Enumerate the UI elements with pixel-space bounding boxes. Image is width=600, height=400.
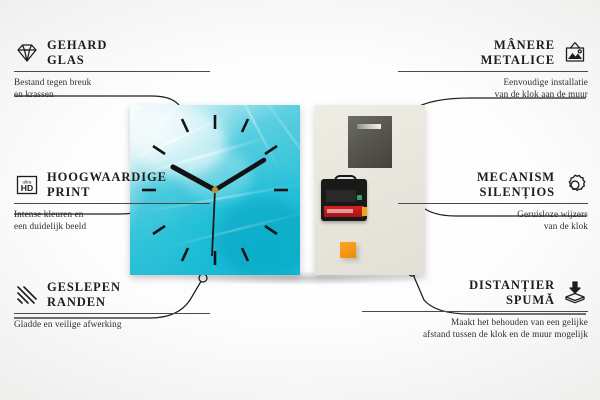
feature-geslepen-randen: GESLEPEN RANDEN Gladde en veilige afwerk… bbox=[14, 280, 210, 330]
divider bbox=[398, 203, 588, 204]
mechanism-label bbox=[326, 190, 356, 202]
feature-subtitle: Maakt het behouden van een gelijke afsta… bbox=[362, 316, 588, 341]
feature-subtitle: Gladde en veilige afwerking bbox=[14, 318, 210, 331]
feature-title: HOOGWAARDIGE PRINT bbox=[47, 170, 167, 200]
clock-center-hub bbox=[212, 187, 218, 193]
diamond-icon bbox=[14, 40, 40, 66]
gear-icon bbox=[562, 172, 588, 198]
feature-title: GEHARD GLAS bbox=[47, 38, 107, 68]
divider bbox=[14, 71, 210, 72]
feature-subtitle: Intense kleuren en een duidelijk beeld bbox=[14, 208, 210, 233]
battery bbox=[324, 206, 364, 217]
foam-spacer bbox=[340, 242, 356, 258]
svg-text:HD: HD bbox=[21, 183, 33, 193]
divider bbox=[14, 313, 210, 314]
divider bbox=[14, 203, 210, 204]
feature-header: GEHARD GLAS bbox=[14, 38, 210, 68]
picture-hanger-icon bbox=[562, 40, 588, 66]
feature-distantier-spuma: DISTANȚIER SPUMĂ Maakt het behouden van … bbox=[362, 278, 588, 341]
feature-title: MÂNERE METALICE bbox=[481, 38, 555, 68]
feature-title: MECANISM SILENȚIOS bbox=[477, 170, 555, 200]
mechanism-body bbox=[321, 179, 367, 221]
feature-header: MÂNERE METALICE bbox=[398, 38, 588, 68]
feature-header: ultra HD HOOGWAARDIGE PRINT bbox=[14, 170, 210, 200]
feature-title: GESLEPEN RANDEN bbox=[47, 280, 121, 310]
metal-hanger-plate bbox=[348, 116, 392, 168]
feature-manere-metalice: MÂNERE METALICE Eenvoudige installatie v… bbox=[398, 38, 588, 101]
feature-title: DISTANȚIER SPUMĂ bbox=[469, 278, 555, 308]
feature-subtitle: Geruisloze wijzers van de klok bbox=[398, 208, 588, 233]
second-hand bbox=[212, 190, 215, 256]
feature-mecanism-silentios: MECANISM SILENȚIOS Geruisloze wijzers va… bbox=[398, 170, 588, 233]
ultra-hd-icon: ultra HD bbox=[14, 172, 40, 198]
feature-header: DISTANȚIER SPUMĂ bbox=[362, 278, 588, 308]
feature-header: MECANISM SILENȚIOS bbox=[398, 170, 588, 200]
feature-hoogwaardige-print: ultra HD HOOGWAARDIGE PRINT Intense kleu… bbox=[14, 170, 210, 233]
battery-positive-cap bbox=[362, 207, 367, 216]
battery-label bbox=[327, 209, 353, 213]
hanger-slot bbox=[357, 124, 381, 129]
infographic-canvas: GEHARD GLAS Bestand tegen breuk en krass… bbox=[0, 0, 600, 400]
minute-hand bbox=[215, 160, 264, 190]
clock-mechanism bbox=[321, 175, 367, 221]
divider bbox=[362, 311, 588, 312]
feature-subtitle: Bestand tegen breuk en krassen bbox=[14, 76, 210, 101]
divider bbox=[398, 71, 588, 72]
feature-header: GESLEPEN RANDEN bbox=[14, 280, 210, 310]
feature-gehard-glas: GEHARD GLAS Bestand tegen breuk en krass… bbox=[14, 38, 210, 101]
mechanism-indicator bbox=[357, 195, 362, 200]
feature-subtitle: Eenvoudige installatie van de klok aan d… bbox=[398, 76, 588, 101]
spacer-arrow-icon bbox=[562, 280, 588, 306]
beveled-edges-icon bbox=[14, 282, 40, 308]
